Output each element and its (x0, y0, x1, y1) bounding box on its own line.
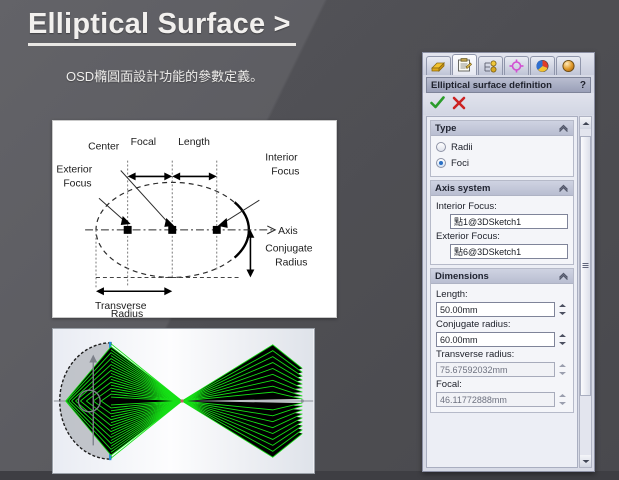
dimensions-group-header[interactable]: Dimensions (431, 269, 573, 284)
page-title: Elliptical Surface > (28, 6, 296, 42)
type-group-header[interactable]: Type (431, 121, 573, 136)
stepper-down-icon[interactable] (556, 310, 568, 318)
length-label: Length: (436, 289, 568, 300)
axis-system-group-body: Interior Focus: 點1@3DSketch1 Exterior Fo… (431, 196, 573, 264)
label-center: Center (88, 142, 120, 153)
radio-radii[interactable] (436, 142, 446, 152)
scroll-up-button[interactable] (580, 117, 591, 129)
focal-stepper (556, 392, 568, 407)
axis-system-group-title: Axis system (435, 183, 558, 194)
scrollbar-thumb[interactable] (580, 136, 591, 397)
panel-body-wrapper: Type Radii Foci (423, 115, 594, 471)
panel-action-bar (423, 93, 594, 115)
dimensions-group-body: Length: 50.00mm Conjugate radius: (431, 284, 573, 412)
configuration-manager-tab[interactable] (478, 56, 503, 75)
focal-dimension (128, 172, 173, 180)
transverse-radius-input: 75.67592032mm (436, 362, 555, 377)
axis-system-group-header[interactable]: Axis system (431, 181, 573, 196)
collapse-chevron-icon[interactable] (558, 179, 569, 197)
clipboard-icon (457, 58, 472, 72)
configuration-icon (483, 60, 498, 73)
dimensions-group-title: Dimensions (435, 271, 558, 282)
focal-label: Focal: (436, 379, 568, 390)
transverse-radius-stepper (556, 362, 568, 377)
label-interior-focus-line1: Interior (265, 153, 298, 164)
radio-foci[interactable] (436, 158, 446, 168)
panel-title-bar: Elliptical surface definition ? (426, 77, 591, 93)
focus-point-far (301, 399, 304, 402)
stepper-down-icon[interactable] (556, 340, 568, 348)
type-group: Type Radii Foci (430, 120, 574, 177)
transverse-radius-label: Transverse radius: (436, 349, 568, 360)
exterior-focus-label: Exterior Focus: (436, 231, 568, 242)
scroll-down-button[interactable] (580, 455, 591, 467)
focal-field-row: 46.11772888mm (436, 392, 568, 407)
type-option-foci[interactable]: Foci (436, 155, 568, 171)
label-transverse-line2: Radius (111, 309, 143, 317)
type-option-radii[interactable]: Radii (436, 139, 568, 155)
stepper-up-icon (556, 362, 568, 370)
subtitle-text: OSD橢圓面設計功能的參數定義。 (66, 68, 263, 86)
length-dimension (172, 172, 217, 180)
sphere-icon (561, 59, 576, 73)
label-conjugate-line2: Radius (275, 258, 307, 269)
interior-focus-label: Interior Focus: (436, 201, 568, 212)
title-underline (28, 43, 296, 46)
conjugate-radius-dimension (246, 230, 254, 278)
collapse-chevron-icon[interactable] (558, 267, 569, 285)
help-button[interactable]: ? (578, 80, 586, 91)
property-manager-panel: Elliptical surface definition ? Type (422, 52, 595, 472)
scrollbar-track[interactable] (580, 129, 591, 455)
exterior-focus-input[interactable]: 點6@3DSketch1 (450, 244, 568, 259)
axis-system-group: Axis system Interior Focus: 點1@3DSketch1… (430, 180, 574, 265)
label-conjugate-line1: Conjugate (265, 244, 313, 255)
type-group-body: Radii Foci (431, 136, 573, 176)
length-stepper[interactable] (556, 302, 568, 317)
interior-focus-input[interactable]: 點1@3DSketch1 (450, 214, 568, 229)
crosshair-icon (509, 59, 524, 73)
stepper-down-icon (556, 370, 568, 378)
label-exterior-focus-line1: Exterior (56, 164, 92, 175)
type-group-title: Type (435, 123, 558, 134)
cancel-cross-icon[interactable] (452, 96, 466, 115)
transverse-radius-dimension (96, 287, 172, 295)
label-focal: Focal (131, 137, 156, 148)
feature-tree-icon (431, 60, 446, 73)
stepper-up-icon[interactable] (556, 332, 568, 340)
conjugate-radius-field-row: 60.00mm (436, 332, 568, 347)
panel-body: Type Radii Foci (426, 116, 578, 468)
panel-scrollbar[interactable] (579, 116, 592, 468)
label-interior-focus-line2: Focus (271, 166, 299, 177)
mate-manager-tab[interactable] (504, 56, 529, 75)
feature-manager-tab[interactable] (426, 56, 451, 75)
label-length: Length (178, 137, 210, 148)
ellipse-definition-diagram: Center Focal Length Exterior Focus Inter… (52, 120, 337, 318)
conjugate-radius-stepper[interactable] (556, 332, 568, 347)
transverse-radius-field-row: 75.67592032mm (436, 362, 568, 377)
focus-point-near (180, 399, 183, 402)
focal-input: 46.11772888mm (436, 392, 555, 407)
stepper-up-icon[interactable] (556, 302, 568, 310)
length-input[interactable]: 50.00mm (436, 302, 555, 317)
appearance-manager-tab[interactable] (556, 56, 581, 75)
display-manager-tab[interactable] (530, 56, 555, 75)
title-block: Elliptical Surface > (28, 6, 296, 46)
stepper-up-icon (556, 392, 568, 400)
radio-foci-label: Foci (451, 158, 469, 169)
property-manager-tab[interactable] (452, 54, 477, 75)
dimensions-group: Dimensions Length: 50.00mm (430, 268, 574, 413)
collapse-chevron-icon[interactable] (558, 119, 569, 137)
panel-title: Elliptical surface definition (431, 80, 578, 91)
length-field-row: 50.00mm (436, 302, 568, 317)
raytrace-viewport (52, 328, 315, 474)
conjugate-radius-input[interactable]: 60.00mm (436, 332, 555, 347)
stepper-down-icon (556, 400, 568, 408)
label-axis: Axis (278, 226, 298, 237)
color-wheel-icon (535, 59, 550, 73)
conjugate-radius-label: Conjugate radius: (436, 319, 568, 330)
radio-radii-label: Radii (451, 142, 473, 153)
ok-checkmark-icon[interactable] (430, 96, 445, 115)
label-exterior-focus-line2: Focus (63, 178, 91, 189)
panel-tab-strip (423, 53, 594, 75)
